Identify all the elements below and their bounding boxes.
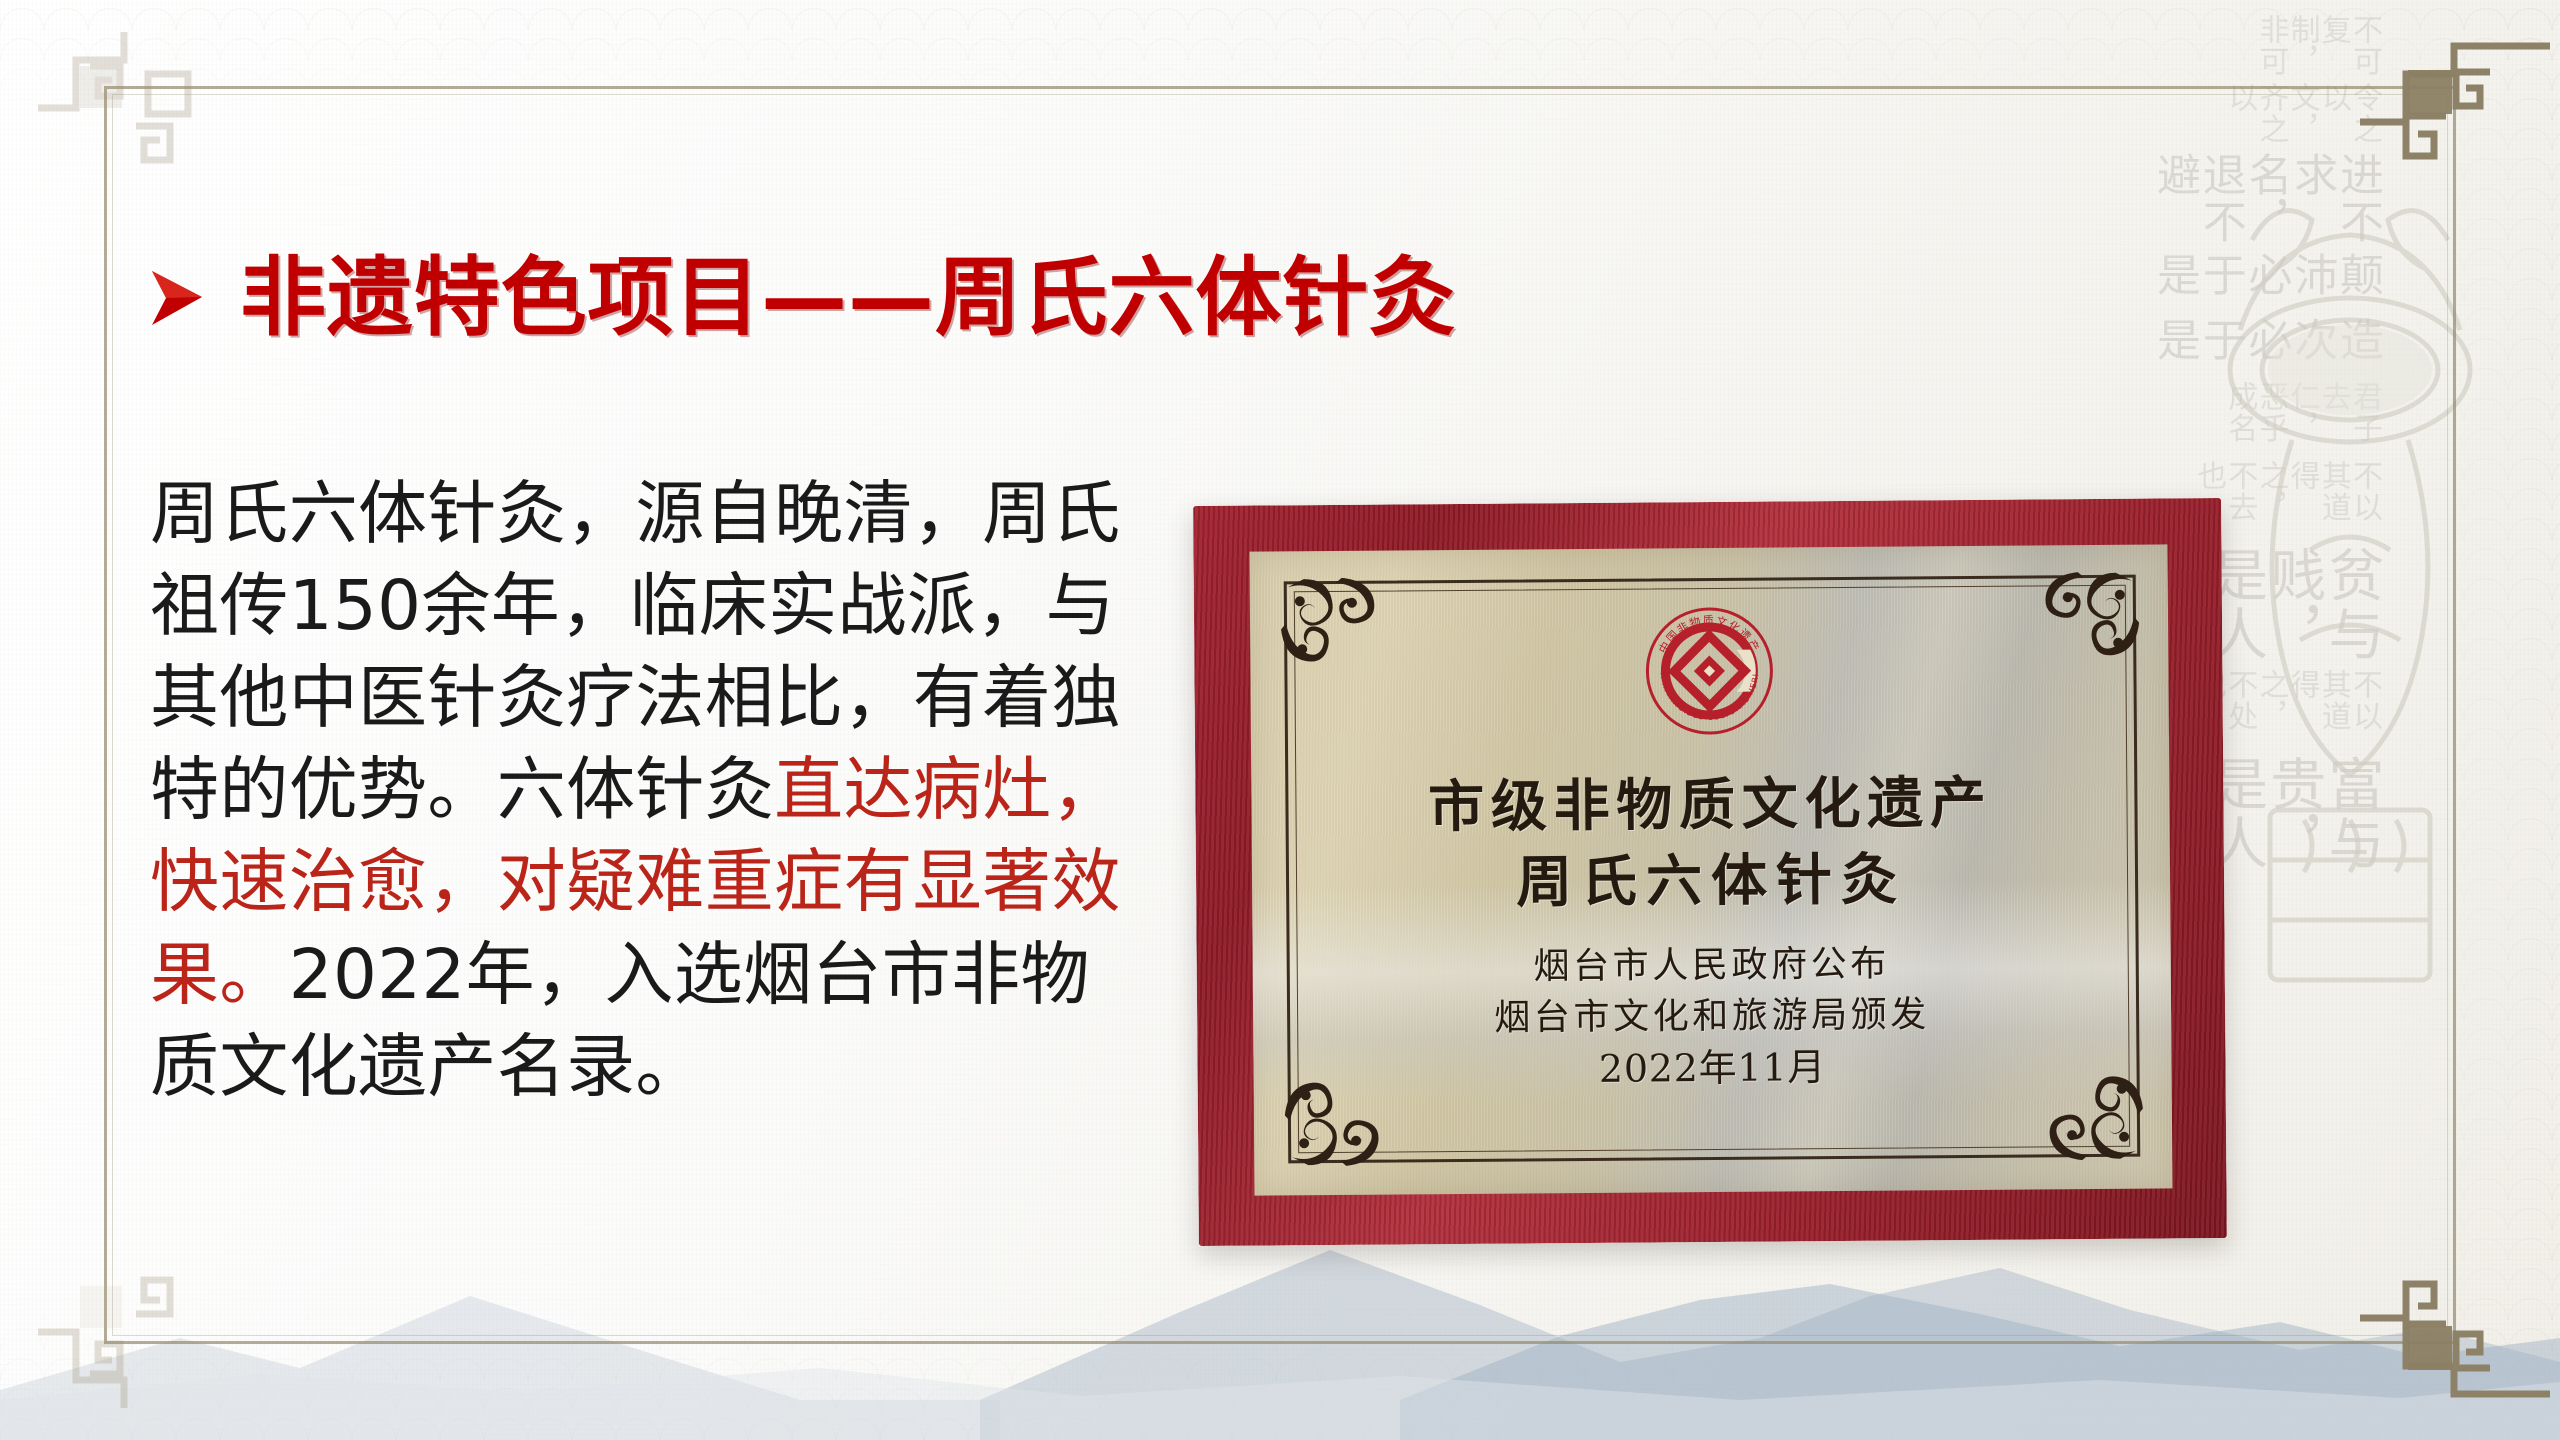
arrow-bullet-icon [148,267,206,329]
award-plaque-image: 中国非物质文化遗产 CHINA INTANGIBLE CULTURAL HERI… [1193,498,2227,1246]
chinese-fret-corner-ornament-icon [2360,12,2550,202]
chinese-fret-corner-ornament-icon [28,1228,218,1418]
watermark-column: 颠沛必于是 [2151,252,2380,313]
plaque-issuer-line1: 烟台市人民政府公布 [1494,938,1930,993]
page-title-text: 非遗特色项目——周氏六体针灸 [240,255,1456,341]
chinese-fret-corner-ornament-icon [28,22,218,212]
plaque-footer: 烟台市人民政府公布 烟台市文化和旅游局颁发 2022年11月 [1494,938,1931,1098]
body-paragraph: 周氏六体针灸，源自晚清，周氏祖传150余年，临床实战派，与其他中医针灸疗法相比，… [150,468,1150,1113]
watermark-column: 令之以文，齐之以 [2224,82,2380,148]
watermark-column: 不可复制，非可 [2255,14,2380,78]
watermark-column: 君子去仁，恶乎成名 [2224,381,2380,455]
intangible-cultural-heritage-emblem-icon: 中国非物质文化遗产 CHINA INTANGIBLE CULTURAL HERI… [1644,605,1775,736]
plaque-heading-line2: 周氏六体针灸 [1516,844,1906,919]
body-segment-plain-2: 2022年，入选烟台市非物质文化遗产名录。 [150,935,1090,1107]
dragon-vessel-relief-icon [2200,120,2500,1020]
plaque-heading-line1: 市级非物质文化遗产 [1428,768,1993,844]
plaque-issuer-line2: 烟台市文化和旅游局颁发 [1494,989,1930,1044]
page-title: 非遗特色项目——周氏六体针灸 [148,255,1456,341]
watermark-column: 进不求名，退不避 [2151,152,2380,249]
plaque-issue-date: 2022年11月 [1495,1040,1931,1097]
plaque-content: 中国非物质文化遗产 CHINA INTANGIBLE CULTURAL HERI… [1249,544,2172,1195]
plaque-brass-plate: 中国非物质文化遗产 CHINA INTANGIBLE CULTURAL HERI… [1249,544,2172,1195]
chinese-fret-corner-ornament-icon [2360,1238,2550,1428]
watermark-column: 造次必于是 [2151,317,2380,378]
slide-root: 富与贵，是人之所欲 不以其道得之，不处也 贫与贱，是人之 不以其道得之，不去也 … [0,0,2560,1440]
